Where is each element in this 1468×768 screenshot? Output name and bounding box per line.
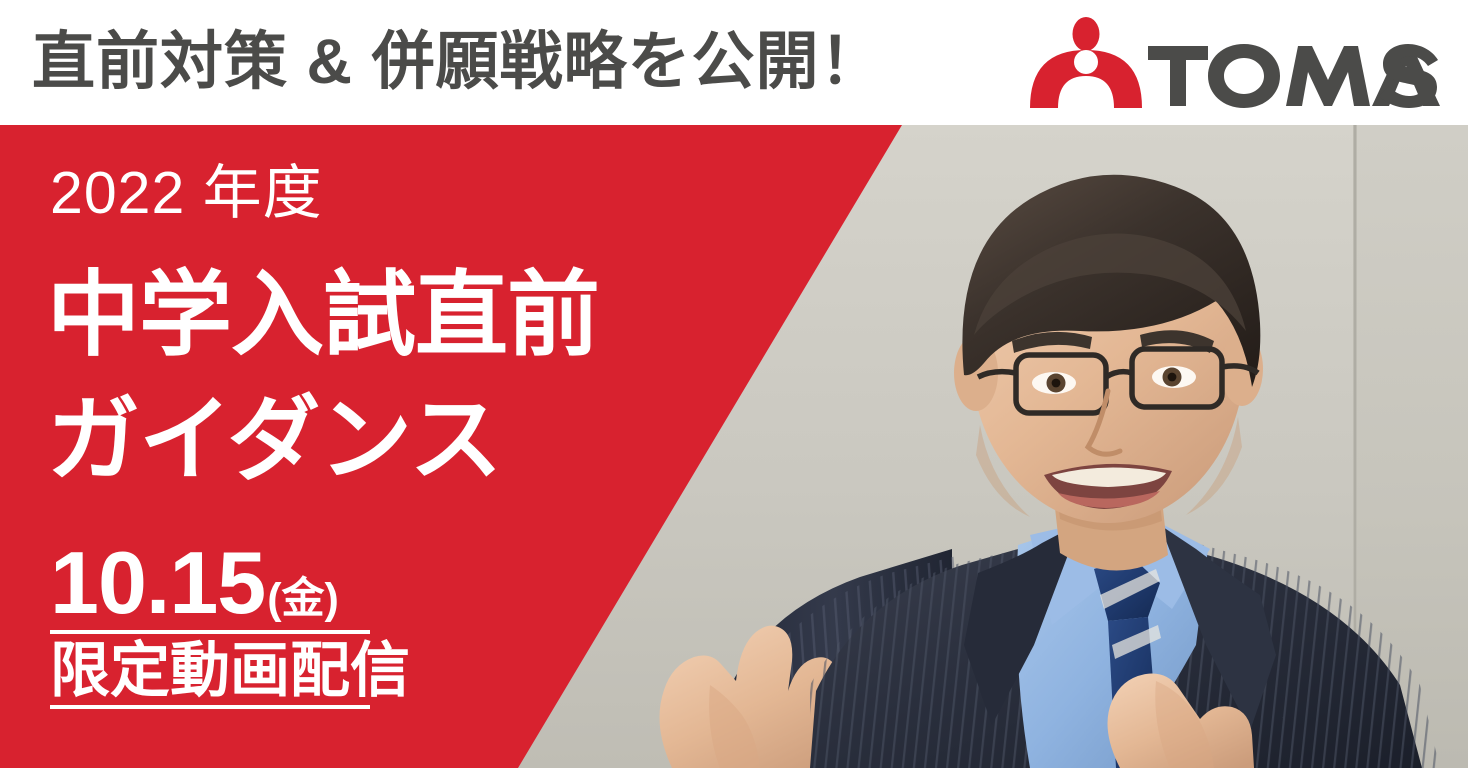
promo-year: 2022 年度 (50, 158, 323, 228)
divider-bottom (50, 705, 370, 709)
promo-banner: 2022 年度 中学入試直前 ガイダンス 10.15 (金) 限定動画配信 直前… (0, 0, 1468, 768)
promo-text-block: 2022 年度 中学入試直前 ガイダンス 10.15 (金) 限定動画配信 (0, 125, 920, 768)
tomas-wordmark (1148, 44, 1440, 108)
tomas-logo[interactable] (1022, 16, 1442, 112)
promo-date-weekday: (金) (267, 574, 339, 624)
divider-top (50, 630, 370, 634)
tomas-arch-icon (1030, 17, 1142, 108)
promo-title-line-1: 中学入試直前 (47, 263, 599, 367)
promo-title-line-2: ガイダンス (47, 388, 501, 492)
promo-date: 10.15 (金) (50, 537, 339, 629)
header-bar: 直前対策 & 併願戦略を公開！ (0, 0, 1468, 125)
header-title: 直前対策 & 併願戦略を公開！ (32, 20, 884, 105)
promo-subtitle: 限定動画配信 (50, 638, 410, 704)
promo-date-number: 10.15 (50, 537, 265, 629)
